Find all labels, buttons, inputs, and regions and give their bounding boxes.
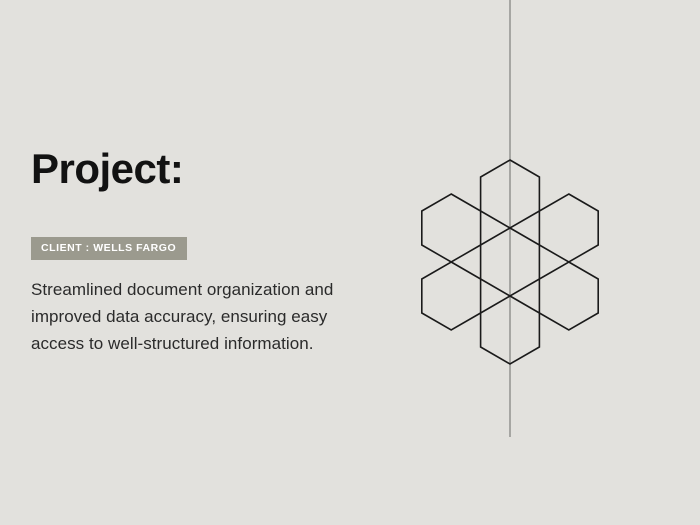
hexagon-center [481,228,540,296]
page-title: Project: [31,140,371,190]
project-description: Streamlined document organization and im… [31,276,361,357]
hexagon-bottom [481,296,540,364]
hexagon-upper-right [539,194,598,262]
hexagon-lower-right [539,262,598,330]
text-content-block: Project: CLIENT : WELLS FARGO Streamline… [31,140,371,374]
hexagon-lower-left [422,262,481,330]
hexagon-cluster [422,160,598,364]
client-badge: CLIENT : WELLS FARGO [31,237,187,260]
hexagon-top [481,160,540,228]
slide-root: Project: CLIENT : WELLS FARGO Streamline… [0,0,700,525]
hexagon-upper-left [422,194,481,262]
